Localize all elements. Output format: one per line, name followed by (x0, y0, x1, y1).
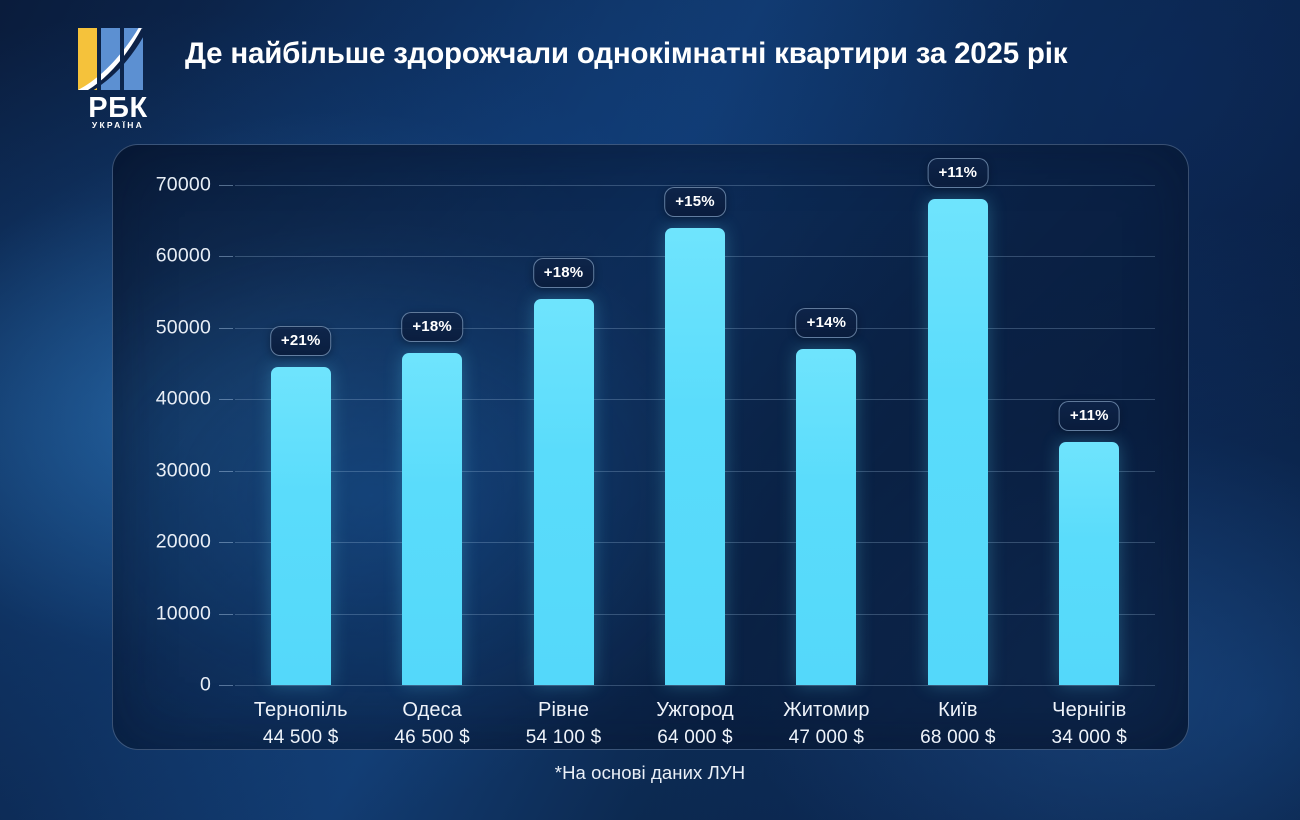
x-axis-label-group: Житомир47 000 $ (783, 699, 869, 749)
growth-badge: +18% (401, 312, 463, 342)
y-axis-tick (219, 471, 233, 472)
bar[interactable] (534, 299, 594, 685)
header: РБК УКРАЇНА Де найбільше здорожчали одно… (0, 0, 1300, 140)
bar[interactable] (928, 199, 988, 685)
x-axis-city-label: Ужгород (656, 699, 734, 722)
x-axis-price-label: 47 000 $ (783, 727, 869, 749)
growth-badge: +14% (796, 308, 858, 338)
y-axis-label: 40000 (115, 388, 211, 411)
x-axis-price-label: 68 000 $ (920, 727, 996, 749)
growth-badge: +18% (533, 258, 595, 288)
growth-badge: +11% (927, 158, 988, 188)
x-axis-label-group: Тернопіль44 500 $ (254, 699, 348, 749)
y-axis-label: 50000 (115, 316, 211, 339)
y-axis-label: 0 (115, 674, 211, 697)
growth-badge: +15% (664, 187, 726, 217)
y-axis-tick (219, 185, 233, 186)
y-axis-tick (219, 399, 233, 400)
x-axis-price-label: 46 500 $ (394, 727, 470, 749)
x-axis-city-label: Одеса (394, 699, 470, 722)
chart-panel: 700006000050000400003000020000100000 +21… (112, 144, 1189, 750)
x-axis-label-group: Чернігів34 000 $ (1052, 699, 1128, 749)
y-axis-label: 10000 (115, 602, 211, 625)
x-axis-label-group: Київ68 000 $ (920, 699, 996, 749)
page-title: Де найбільше здорожчали однокімнатні ква… (185, 36, 1245, 73)
x-axis-label-group: Одеса46 500 $ (394, 699, 470, 749)
y-axis-label: 30000 (115, 459, 211, 482)
y-axis-label: 60000 (115, 245, 211, 268)
rbc-ukraine-logo-icon: РБК УКРАЇНА (72, 18, 164, 130)
gridline (235, 185, 1155, 186)
x-axis-city-label: Рівне (526, 699, 602, 722)
growth-badge: +21% (270, 326, 332, 356)
x-axis-label-group: Ужгород64 000 $ (656, 699, 734, 749)
x-axis-city-label: Київ (920, 699, 996, 722)
bar[interactable] (271, 367, 331, 685)
y-axis-tick (219, 685, 233, 686)
bar[interactable] (1059, 442, 1119, 685)
y-axis-tick (219, 328, 233, 329)
svg-text:УКРАЇНА: УКРАЇНА (92, 120, 144, 130)
x-axis-price-label: 54 100 $ (526, 727, 602, 749)
infographic-canvas: РБК УКРАЇНА Де найбільше здорожчали одно… (0, 0, 1300, 820)
x-axis-price-label: 34 000 $ (1052, 727, 1128, 749)
x-axis-city-label: Житомир (783, 699, 869, 722)
x-axis-label-group: Рівне54 100 $ (526, 699, 602, 749)
y-axis-label: 20000 (115, 531, 211, 554)
x-axis-price-label: 44 500 $ (254, 727, 348, 749)
y-axis-label: 70000 (115, 174, 211, 197)
x-axis-city-label: Чернігів (1052, 699, 1128, 722)
y-axis-tick (219, 542, 233, 543)
bar[interactable] (402, 353, 462, 685)
growth-badge: +11% (1059, 401, 1120, 431)
y-axis-tick (219, 256, 233, 257)
bar[interactable] (796, 349, 856, 685)
bar[interactable] (665, 228, 725, 685)
y-axis-tick (219, 614, 233, 615)
source-footnote: *На основі даних ЛУН (0, 762, 1300, 784)
gridline (235, 685, 1155, 686)
x-axis-city-label: Тернопіль (254, 699, 348, 722)
x-axis-price-label: 64 000 $ (656, 727, 734, 749)
plot-area: 700006000050000400003000020000100000 +21… (235, 185, 1155, 685)
